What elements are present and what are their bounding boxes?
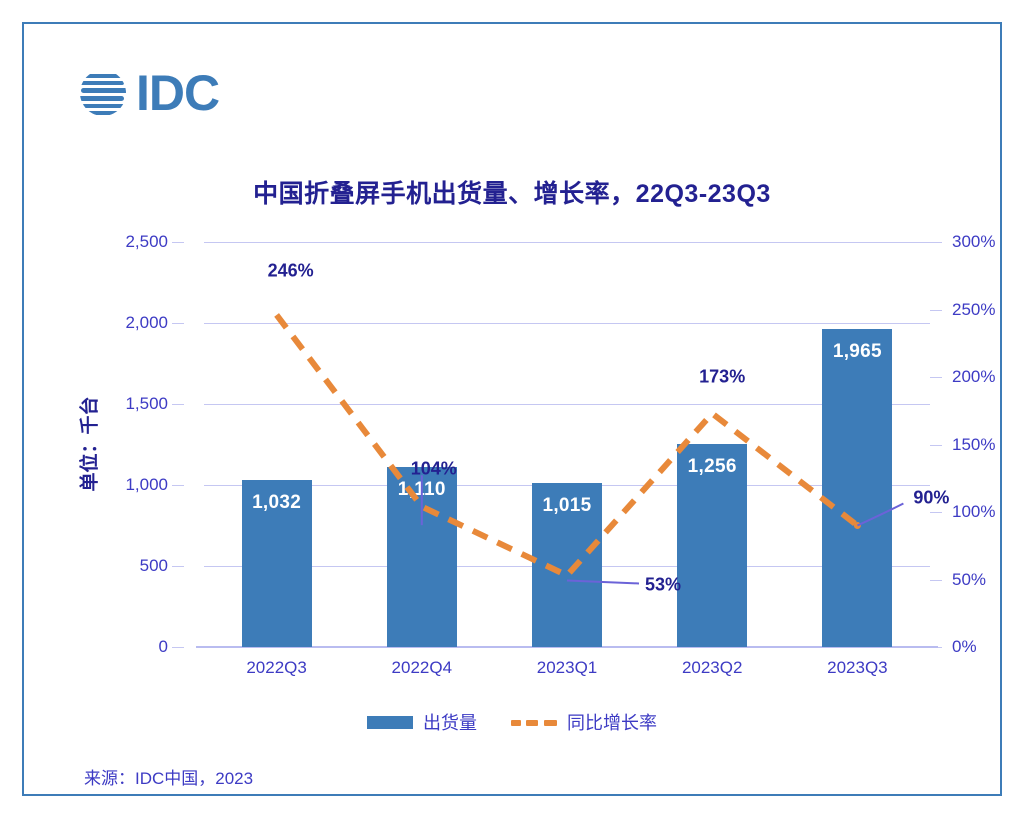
y-tick-mark-left-1 xyxy=(172,566,184,567)
idc-logo: IDC xyxy=(76,66,219,120)
y-tick-left-0: 0 xyxy=(159,637,168,657)
page-title: 中国折叠屏手机出货量、增长率，22Q3-23Q3 xyxy=(24,174,1000,210)
y-tick-mark-right-5 xyxy=(930,310,942,311)
y-axis-right: 0% 50% 100% 150% 200% 250% 300% xyxy=(930,242,1024,647)
x-tick-2023Q2: 2023Q2 xyxy=(640,658,785,678)
y-tick-right-0: 0% xyxy=(952,637,977,657)
chart-legend: 出货量 同比增长率 xyxy=(24,709,1000,735)
growth-rate-label-2023Q2: 173% xyxy=(699,367,745,388)
y-tick-left-3: 1,500 xyxy=(125,394,168,414)
legend-bar-swatch-icon xyxy=(367,716,413,729)
chart-card: IDC 中国折叠屏手机出货量、增长率，22Q3-23Q3 单位：千台 0 500… xyxy=(22,22,1002,796)
y-tick-right-5: 250% xyxy=(952,300,995,320)
y-tick-mark-right-1 xyxy=(930,580,942,581)
legend-dashed-line-icon xyxy=(511,716,557,729)
y-tick-mark-right-3 xyxy=(930,445,942,446)
x-tick-2023Q1: 2023Q1 xyxy=(495,658,640,678)
legend-item-shipments[interactable]: 出货量 xyxy=(367,709,477,735)
growth-rate-label-2022Q3: 246% xyxy=(268,260,314,281)
plot-area: 1,0321,1101,0151,2561,965 246%104%53%173… xyxy=(204,242,930,647)
growth-rate-label-2023Q1: 53% xyxy=(645,575,681,596)
y-tick-mark-left-5 xyxy=(172,242,184,243)
x-tick-2022Q3: 2022Q3 xyxy=(204,658,349,678)
y-tick-mark-right-6 xyxy=(930,242,942,243)
y-tick-mark-left-3 xyxy=(172,404,184,405)
y-tick-right-6: 300% xyxy=(952,232,995,252)
idc-globe-icon xyxy=(76,66,130,120)
idc-logo-text: IDC xyxy=(136,66,219,120)
label-leader-line xyxy=(857,504,903,526)
y-tick-mark-left-2 xyxy=(172,485,184,486)
y-tick-mark-left-0 xyxy=(172,647,184,648)
legend-label-shipments: 出货量 xyxy=(423,709,477,735)
x-axis: 2022Q32022Q42023Q12023Q22023Q3 xyxy=(204,658,930,688)
growth-line-series xyxy=(204,242,930,647)
y-tick-mark-right-4 xyxy=(930,377,942,378)
y-tick-mark-left-4 xyxy=(172,323,184,324)
x-tick-2023Q3: 2023Q3 xyxy=(785,658,930,678)
growth-rate-line xyxy=(277,315,858,576)
screenshot-root: IDC 中国折叠屏手机出货量、增长率，22Q3-23Q3 单位：千台 0 500… xyxy=(0,0,1024,820)
growth-rate-label-2023Q3: 90% xyxy=(913,487,949,508)
y-tick-left-1: 500 xyxy=(140,556,168,576)
growth-rate-label-2022Q4: 104% xyxy=(411,458,457,479)
y-tick-right-3: 150% xyxy=(952,435,995,455)
source-note: 来源：IDC中国，2023 xyxy=(84,764,253,789)
y-tick-left-4: 2,000 xyxy=(125,313,168,333)
y-axis-left: 0 500 1,000 1,500 2,000 2,500 xyxy=(24,242,184,647)
legend-item-growth-rate[interactable]: 同比增长率 xyxy=(511,709,657,735)
x-tick-2022Q4: 2022Q4 xyxy=(349,658,494,678)
label-leader-line xyxy=(567,580,639,583)
y-tick-right-4: 200% xyxy=(952,367,995,387)
legend-label-growth-rate: 同比增长率 xyxy=(567,709,657,735)
y-tick-mark-right-2 xyxy=(930,512,942,513)
y-tick-right-1: 50% xyxy=(952,570,986,590)
y-tick-left-5: 2,500 xyxy=(125,232,168,252)
y-tick-right-2: 100% xyxy=(952,502,995,522)
y-tick-left-2: 1,000 xyxy=(125,475,168,495)
